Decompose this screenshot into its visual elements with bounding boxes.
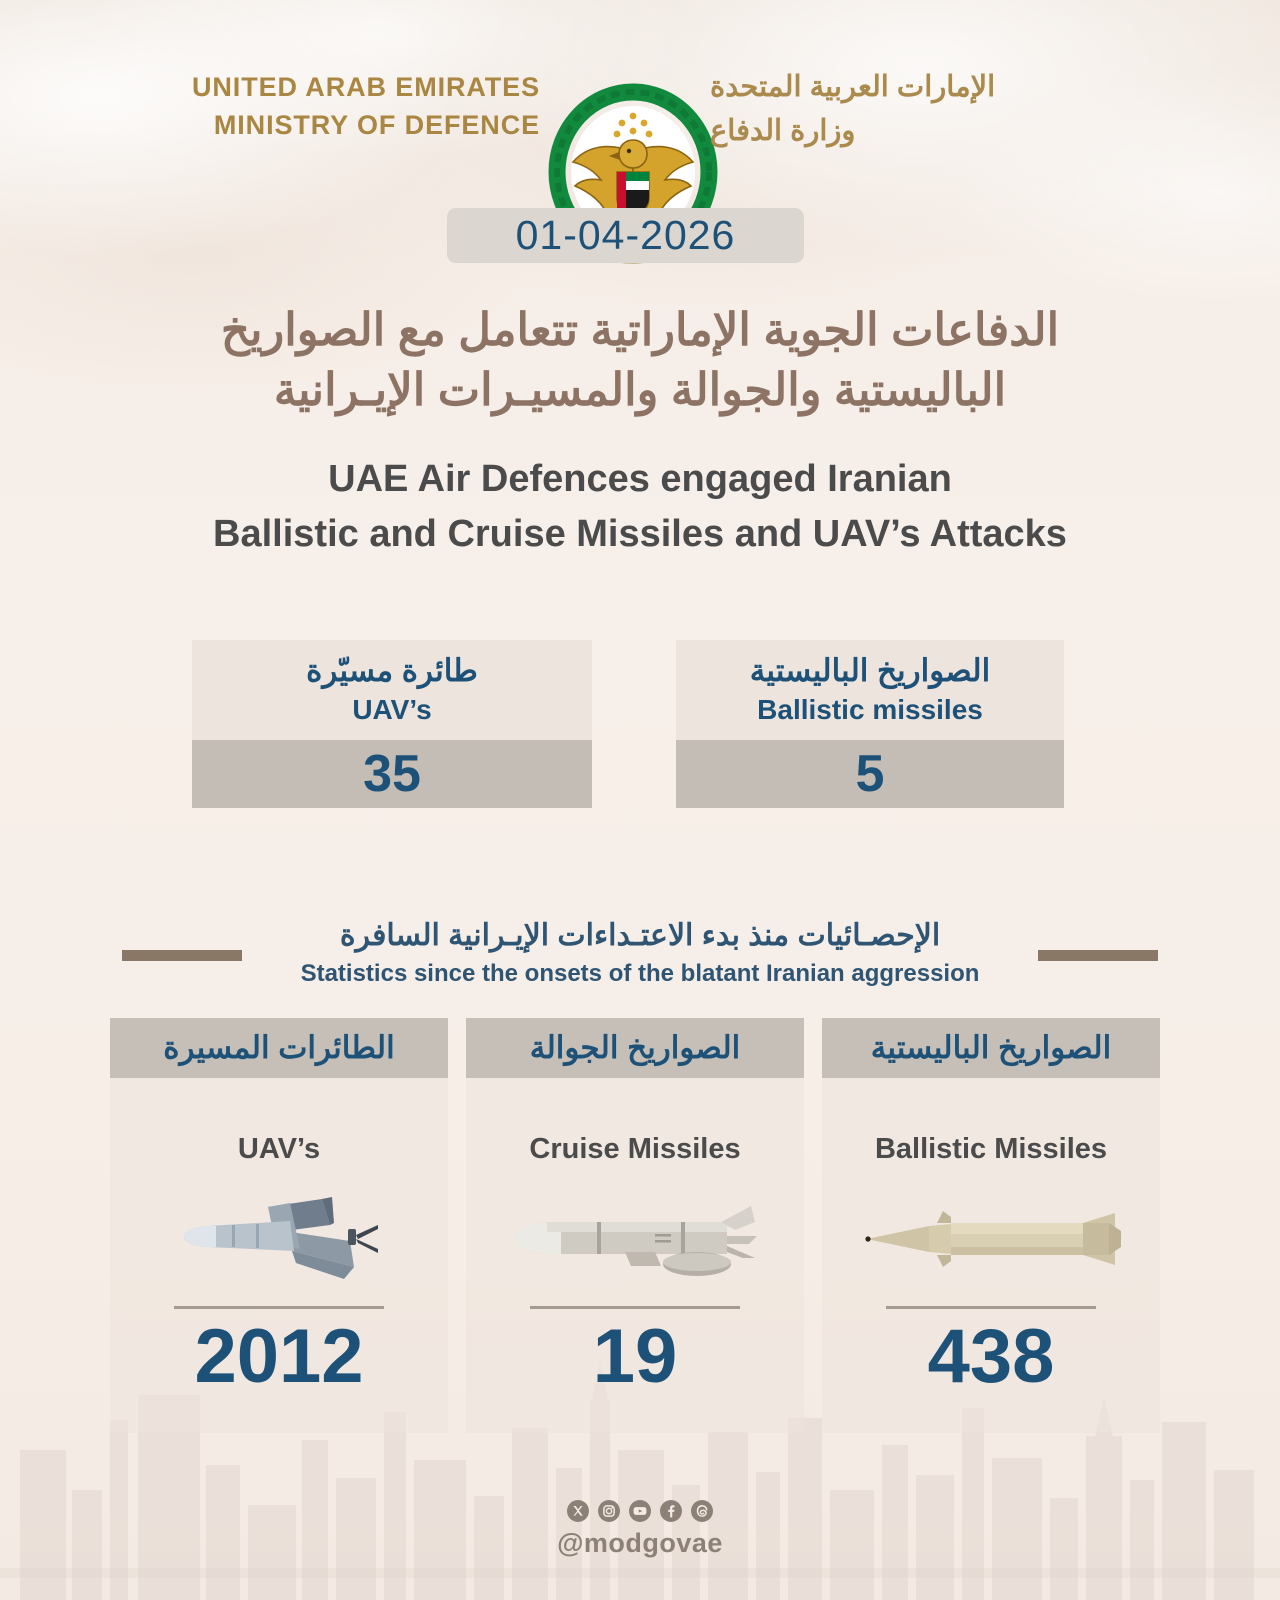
panel-rule: [530, 1306, 740, 1309]
panel-label-english: UAV’s: [110, 1133, 448, 1166]
daily-stat-header-ballistic: الصواريخ الباليستية Ballistic missiles: [676, 640, 1064, 740]
panel-header-cruise: الصواريخ الجوالة: [466, 1018, 804, 1078]
panel-label-arabic: الطائرات المسيرة: [163, 1030, 394, 1066]
daily-stat-label-english: Ballistic missiles: [686, 694, 1054, 726]
page-footer: @modgovae: [0, 1500, 1280, 1559]
cruise-missile-icon: [505, 1196, 765, 1282]
x-twitter-icon[interactable]: [567, 1500, 589, 1522]
cruise-missile-image-wrap: [466, 1184, 804, 1294]
daily-stat-value-ballistic: 5: [676, 740, 1064, 808]
daily-stat-value-uav: 35: [192, 740, 592, 808]
section-title-arabic: الإحصـائيات منذ بدء الاعتـداءات الإيـران…: [140, 918, 1140, 953]
date-badge: 01-04-2026: [447, 208, 804, 263]
cumulative-panel-uav: الطائرات المسيرة UAV’s: [110, 1018, 448, 1433]
page-title-english-line1: UAE Air Defences engaged Iranian: [110, 452, 1170, 507]
daily-stat-card-ballistic: الصواريخ الباليستية Ballistic missiles 5: [676, 640, 1064, 808]
ministry-name-arabic: الإمارات العربية المتحدة وزارة الدفاع: [710, 66, 1110, 153]
daily-stat-card-uav: طائرة مسيّرة UAV’s 35: [192, 640, 592, 808]
page-title-english: UAE Air Defences engaged Iranian Ballist…: [110, 452, 1170, 562]
panel-label-english: Ballistic Missiles: [822, 1133, 1160, 1166]
threads-icon[interactable]: [691, 1500, 713, 1522]
page-title-english-line2: Ballistic and Cruise Missiles and UAV’s …: [110, 507, 1170, 562]
daily-stats-group: طائرة مسيّرة UAV’s 35 الصواريخ الباليستي…: [0, 640, 1280, 840]
section-title-english: Statistics since the onsets of the blata…: [140, 960, 1140, 988]
instagram-icon[interactable]: [598, 1500, 620, 1522]
youtube-icon[interactable]: [629, 1500, 651, 1522]
cumulative-panel-cruise: الصواريخ الجوالة Cruise Missiles: [466, 1018, 804, 1433]
ministry-name-english-line2: MINISTRY OF DEFENCE: [150, 106, 540, 144]
ministry-name-arabic-line2: وزارة الدفاع: [710, 110, 1110, 154]
ministry-name-english-line1: UNITED ARAB EMIRATES: [150, 68, 540, 106]
facebook-icon[interactable]: [660, 1500, 682, 1522]
drone-uav-image-wrap: [110, 1184, 448, 1294]
cumulative-value-ballistic: 438: [822, 1315, 1160, 1399]
cumulative-panel-ballistic: الصواريخ الباليستية Ballistic Missiles: [822, 1018, 1160, 1433]
social-icons-row: [0, 1500, 1280, 1522]
page-title-arabic: الدفاعات الجوية الإماراتية تتعامل مع الص…: [140, 300, 1140, 421]
panel-rule: [174, 1306, 384, 1309]
daily-stat-header-uav: طائرة مسيّرة UAV’s: [192, 640, 592, 740]
statistics-section-divider: الإحصـائيات منذ بدء الاعتـداءات الإيـران…: [0, 918, 1280, 1013]
social-handle[interactable]: @modgovae: [0, 1528, 1280, 1559]
panel-rule: [886, 1306, 1096, 1309]
ballistic-missile-icon: [859, 1199, 1124, 1279]
daily-stat-label-arabic: طائرة مسيّرة: [202, 652, 582, 691]
cumulative-value-uav: 2012: [110, 1315, 448, 1399]
panel-header-ballistic: الصواريخ الباليستية: [822, 1018, 1160, 1078]
cumulative-stats-group: الطائرات المسيرة UAV’s: [0, 1018, 1280, 1438]
panel-label-arabic: الصواريخ الجوالة: [530, 1030, 741, 1066]
panel-header-uav: الطائرات المسيرة: [110, 1018, 448, 1078]
panel-label-english: Cruise Missiles: [466, 1133, 804, 1166]
panel-label-arabic: الصواريخ الباليستية: [871, 1030, 1111, 1066]
daily-stat-label-english: UAV’s: [202, 694, 582, 726]
ministry-name-english: UNITED ARAB EMIRATES MINISTRY OF DEFENCE: [150, 68, 540, 145]
date-value: 01-04-2026: [516, 212, 736, 259]
drone-uav-icon: [172, 1189, 387, 1289]
ministry-name-arabic-line1: الإمارات العربية المتحدة: [710, 66, 1110, 110]
ballistic-missile-image-wrap: [822, 1184, 1160, 1294]
page-header: UNITED ARAB EMIRATES MINISTRY OF DEFENCE: [0, 52, 1280, 222]
cumulative-value-cruise: 19: [466, 1315, 804, 1399]
daily-stat-label-arabic: الصواريخ الباليستية: [686, 652, 1054, 691]
